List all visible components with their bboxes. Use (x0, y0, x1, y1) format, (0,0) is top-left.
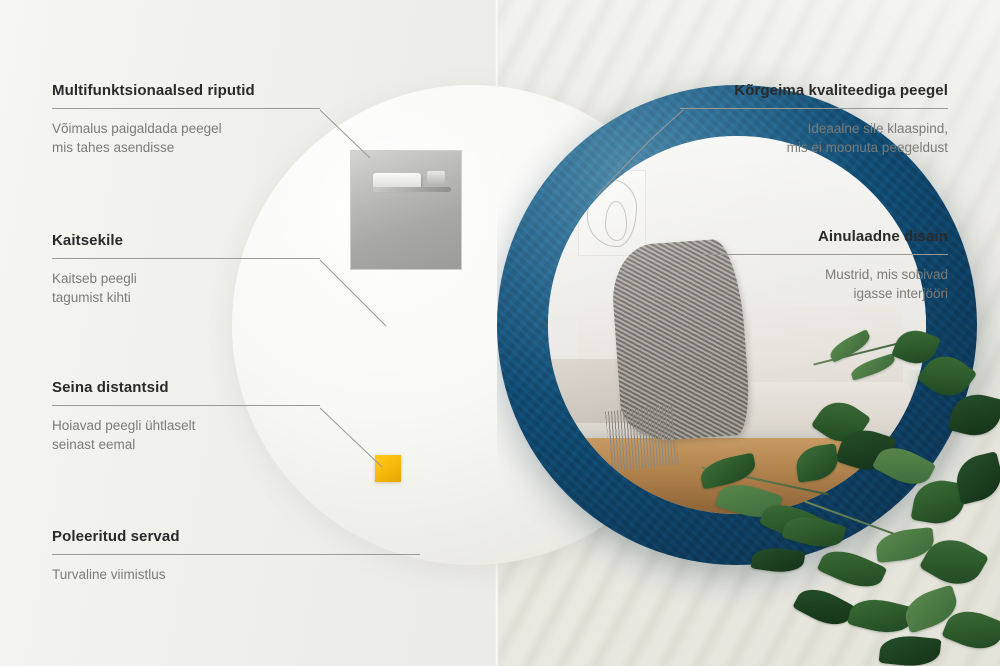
leaf (879, 633, 942, 666)
callout-highest-quality-mirror: Kõrgeima kvaliteediga peegel Ideaalne si… (680, 82, 948, 157)
leaf (948, 389, 1000, 441)
callout-rule (52, 108, 320, 109)
callout-title: Seina distantsid (52, 379, 320, 396)
callout-unique-design: Ainulaadne disain Mustrid, mis sobivad i… (702, 228, 948, 303)
callout-description: Võimalus paigaldada peegel mis tahes ase… (52, 119, 320, 157)
leaf (794, 443, 840, 483)
callout-rule (52, 554, 420, 555)
callout-title: Multifunktsionaalsed riputid (52, 82, 320, 99)
callout-title: Poleeritud servad (52, 528, 420, 545)
callout-rule (52, 258, 320, 259)
callout-title: Ainulaadne disain (702, 228, 948, 245)
leaf (751, 544, 806, 575)
callout-multifunctional-hangers: Multifunktsionaalsed riputid Võimalus pa… (52, 82, 320, 157)
callout-rule (702, 254, 948, 255)
callout-title: Kõrgeima kvaliteediga peegel (680, 82, 948, 99)
callout-description: Kaitseb peegli tagumist kihti (52, 269, 320, 307)
foliage-decoration (700, 330, 1000, 666)
leaf (792, 581, 856, 634)
reflection-art-line-inner (605, 201, 627, 241)
product-feature-infographic: Multifunktsionaalsed riputid Võimalus pa… (0, 0, 1000, 666)
callout-description: Mustrid, mis sobivad igasse interjööri (702, 265, 948, 303)
hanger-plate (350, 150, 462, 270)
callout-rule (680, 108, 948, 109)
callout-wall-spacers: Seina distantsid Hoiavad peegli ühtlasel… (52, 379, 320, 454)
callout-description: Hoiavad peegli ühtlaselt seinast eemal (52, 416, 320, 454)
reflection-throw-fringe (605, 405, 679, 472)
callout-description: Ideaalne sile klaaspind, mis ei moonuta … (680, 119, 948, 157)
wall-spacer-chip (375, 455, 401, 482)
callout-rule (52, 405, 320, 406)
callout-description: Turvaline viimistlus (52, 565, 420, 584)
reflection-art-frame (578, 170, 646, 256)
leaf (849, 353, 897, 381)
hanger-bar (373, 187, 451, 192)
leaf (698, 452, 758, 489)
callout-protective-film: Kaitsekile Kaitseb peegli tagumist kihti (52, 232, 320, 307)
callout-title: Kaitsekile (52, 232, 320, 249)
hanger-slot (427, 171, 445, 185)
leaf (827, 329, 874, 363)
callout-polished-edges: Poleeritud servad Turvaline viimistlus (52, 528, 420, 584)
